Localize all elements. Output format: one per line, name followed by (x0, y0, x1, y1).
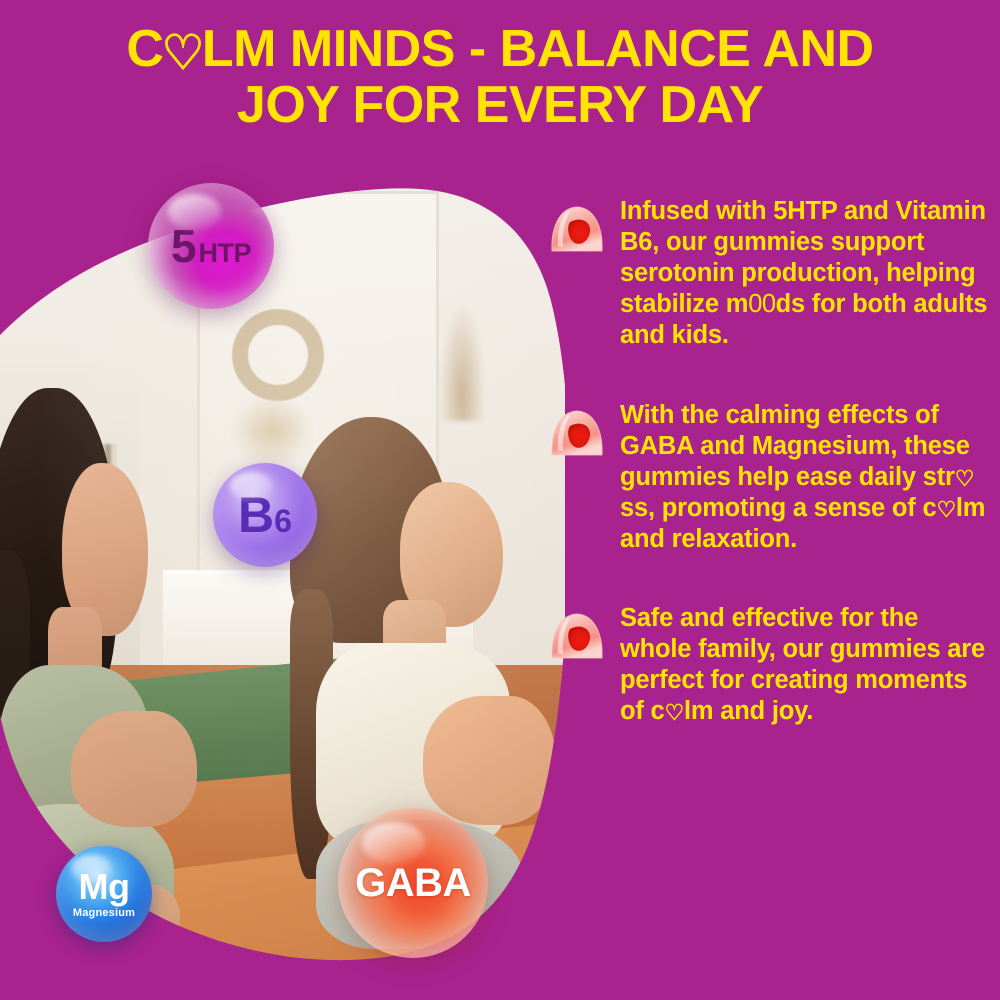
bubble-5htp-label: 5 HTP (171, 223, 251, 269)
gummy-icon (548, 200, 606, 256)
bubble-5htp-main: 5 (171, 223, 197, 269)
headline-c: C (126, 20, 163, 78)
girl-arm (423, 696, 556, 825)
benefit-2-part-2: ss, promoting a sense of c (620, 494, 936, 522)
benefit-text-2: With the calming effects of GABA and Mag… (620, 400, 990, 556)
benefits-list: Infused with 5HTP and Vitamin B6, our gu… (548, 196, 990, 728)
bubble-b6-main: B (238, 490, 274, 540)
product-infographic-poster: C♡LM MINDS - BALANCE AND JOY FOR EVERY D… (0, 0, 1000, 1000)
vase-decor (439, 301, 485, 421)
bubble-gaba-label: GABA (355, 863, 471, 903)
lifestyle-photo (0, 175, 565, 965)
headline-line-1: C♡LM MINDS - BALANCE AND (0, 22, 1000, 78)
benefit-3-part-2: lm and joy. (684, 697, 813, 725)
ingredient-bubble-magnesium: Mg Magnesium (56, 846, 152, 942)
page-title: C♡LM MINDS - BALANCE AND JOY FOR EVERY D… (0, 22, 1000, 133)
gummy-icon (548, 607, 606, 663)
benefit-2-part-1: With the calming effects of GABA and Mag… (620, 401, 970, 491)
bubble-mg-main: Mg (79, 869, 130, 905)
heart-icon: ♡ (955, 466, 974, 493)
heart-icon: ♡ (161, 30, 203, 78)
benefit-text-3: Safe and effective for the whole family,… (620, 603, 990, 727)
benefit-text-1: Infused with 5HTP and Vitamin B6, our gu… (620, 196, 990, 352)
bubble-mg-sub: Magnesium (73, 908, 135, 919)
headline-line1-rest: LM MINDS - BALANCE AND (202, 20, 874, 78)
heart-icon: ♡ (665, 700, 684, 727)
gummy-icon (548, 404, 606, 460)
bubble-b6-label: B 6 (238, 490, 292, 540)
headline-line-2: JOY FOR EVERY DAY (0, 78, 1000, 134)
photo-scene (0, 175, 565, 965)
benefit-item-2: With the calming effects of GABA and Mag… (548, 400, 990, 556)
benefit-1-zeros: 00 (748, 290, 775, 318)
woman-arm (71, 711, 198, 826)
benefit-item-1: Infused with 5HTP and Vitamin B6, our gu… (548, 196, 990, 352)
ingredient-bubble-b6: B 6 (213, 463, 317, 567)
ingredient-bubble-gaba: GABA (338, 808, 488, 958)
ingredient-bubble-5htp: 5 HTP (148, 183, 274, 309)
heart-icon: ♡ (936, 497, 955, 524)
bubble-5htp-sub: HTP (199, 240, 252, 267)
bubble-b6-sub: 6 (274, 505, 292, 537)
benefit-item-3: Safe and effective for the whole family,… (548, 603, 990, 727)
